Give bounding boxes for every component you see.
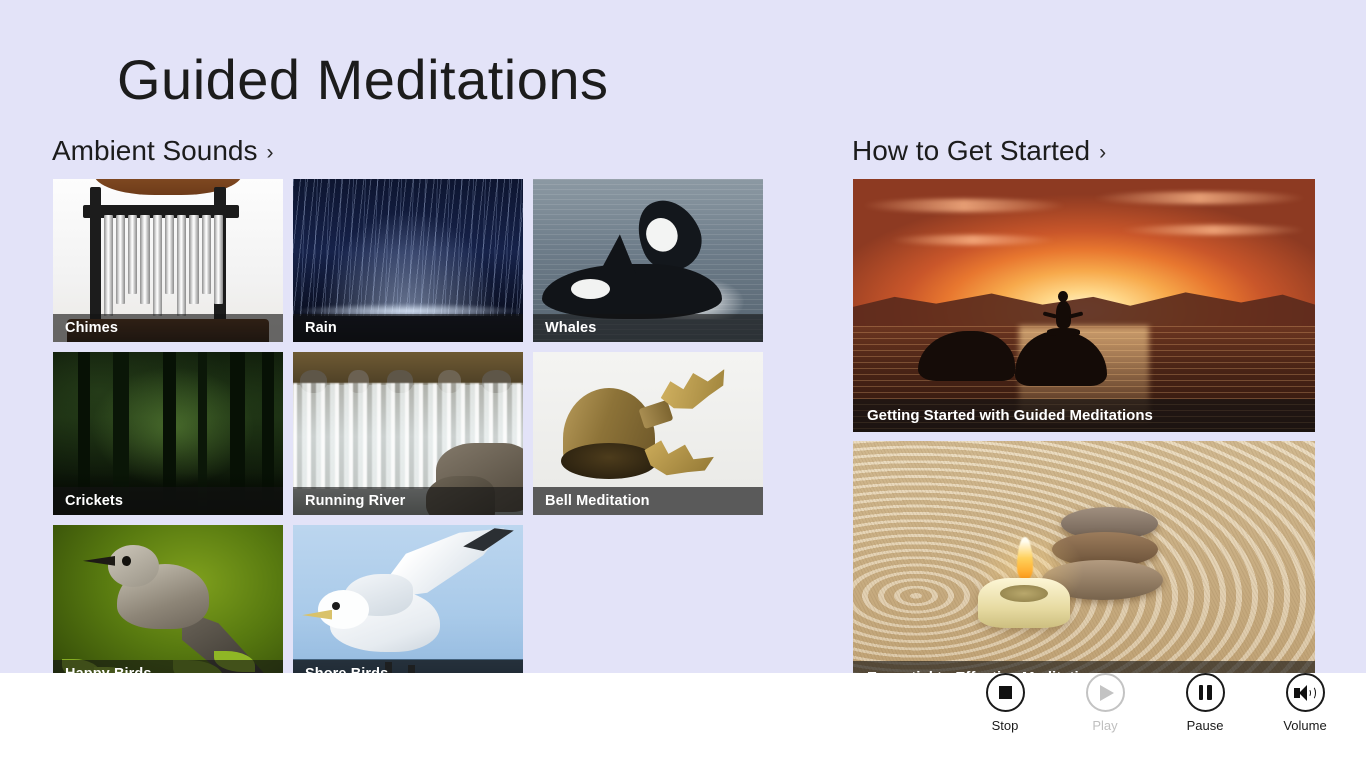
play-button[interactable]: Play xyxy=(1069,673,1141,733)
app-bar: Playing: "Bell Meditation" Stop Play Pau… xyxy=(0,673,1366,768)
volume-icon xyxy=(1286,673,1325,712)
happy-birds-artwork xyxy=(53,525,283,674)
section-header-ambient-sounds[interactable]: Ambient Sounds › xyxy=(52,135,273,167)
zen-candle-artwork xyxy=(853,441,1315,674)
pause-button[interactable]: Pause xyxy=(1169,673,1241,733)
tile-happy-birds[interactable]: Happy Birds xyxy=(53,525,283,674)
section-header-started-label: How to Get Started xyxy=(852,135,1090,167)
tile-rain[interactable]: Rain xyxy=(293,179,523,342)
play-button-label: Play xyxy=(1092,718,1117,733)
stop-icon xyxy=(986,673,1025,712)
how-to-get-started-list: Getting Started with Guided Meditations … xyxy=(853,179,1315,674)
tile-getting-started[interactable]: Getting Started with Guided Meditations xyxy=(853,179,1315,432)
tile-label: Getting Started with Guided Meditations xyxy=(853,399,1315,432)
tile-whales[interactable]: Whales xyxy=(533,179,763,342)
tile-bell-meditation[interactable]: Bell Meditation xyxy=(533,352,763,515)
tile-label: Shore Birds xyxy=(293,660,523,674)
tile-label: Crickets xyxy=(53,487,283,515)
chevron-right-icon: › xyxy=(266,141,273,165)
stop-button[interactable]: Stop xyxy=(969,673,1041,733)
volume-button[interactable]: Volume xyxy=(1269,673,1341,733)
chevron-right-icon: › xyxy=(1099,141,1106,165)
tile-label: Whales xyxy=(533,314,763,342)
section-header-ambient-label: Ambient Sounds xyxy=(52,135,257,167)
pause-icon xyxy=(1186,673,1225,712)
tile-label: Rain xyxy=(293,314,523,342)
pause-button-label: Pause xyxy=(1187,718,1224,733)
stop-button-label: Stop xyxy=(992,718,1019,733)
tile-chimes[interactable]: Chimes xyxy=(53,179,283,342)
tile-essential-meditation[interactable]: Essential to Effective Meditation xyxy=(853,441,1315,674)
section-header-how-to-get-started[interactable]: How to Get Started › xyxy=(852,135,1106,167)
page-title: Guided Meditations xyxy=(117,48,609,112)
app-root: Guided Meditations Ambient Sounds › How … xyxy=(0,0,1366,768)
tile-label: Chimes xyxy=(53,314,283,342)
shore-birds-artwork xyxy=(293,525,523,674)
tile-running-river[interactable]: Running River xyxy=(293,352,523,515)
ambient-sounds-grid: Chimes Rain Whales xyxy=(53,179,765,674)
volume-button-label: Volume xyxy=(1283,718,1326,733)
tile-label: Running River xyxy=(293,487,523,515)
tile-crickets[interactable]: Crickets xyxy=(53,352,283,515)
sunset-meditation-artwork xyxy=(853,179,1315,432)
tile-label: Bell Meditation xyxy=(533,487,763,515)
tile-label: Happy Birds xyxy=(53,660,283,674)
tile-shore-birds[interactable]: Shore Birds xyxy=(293,525,523,674)
play-icon xyxy=(1086,673,1125,712)
